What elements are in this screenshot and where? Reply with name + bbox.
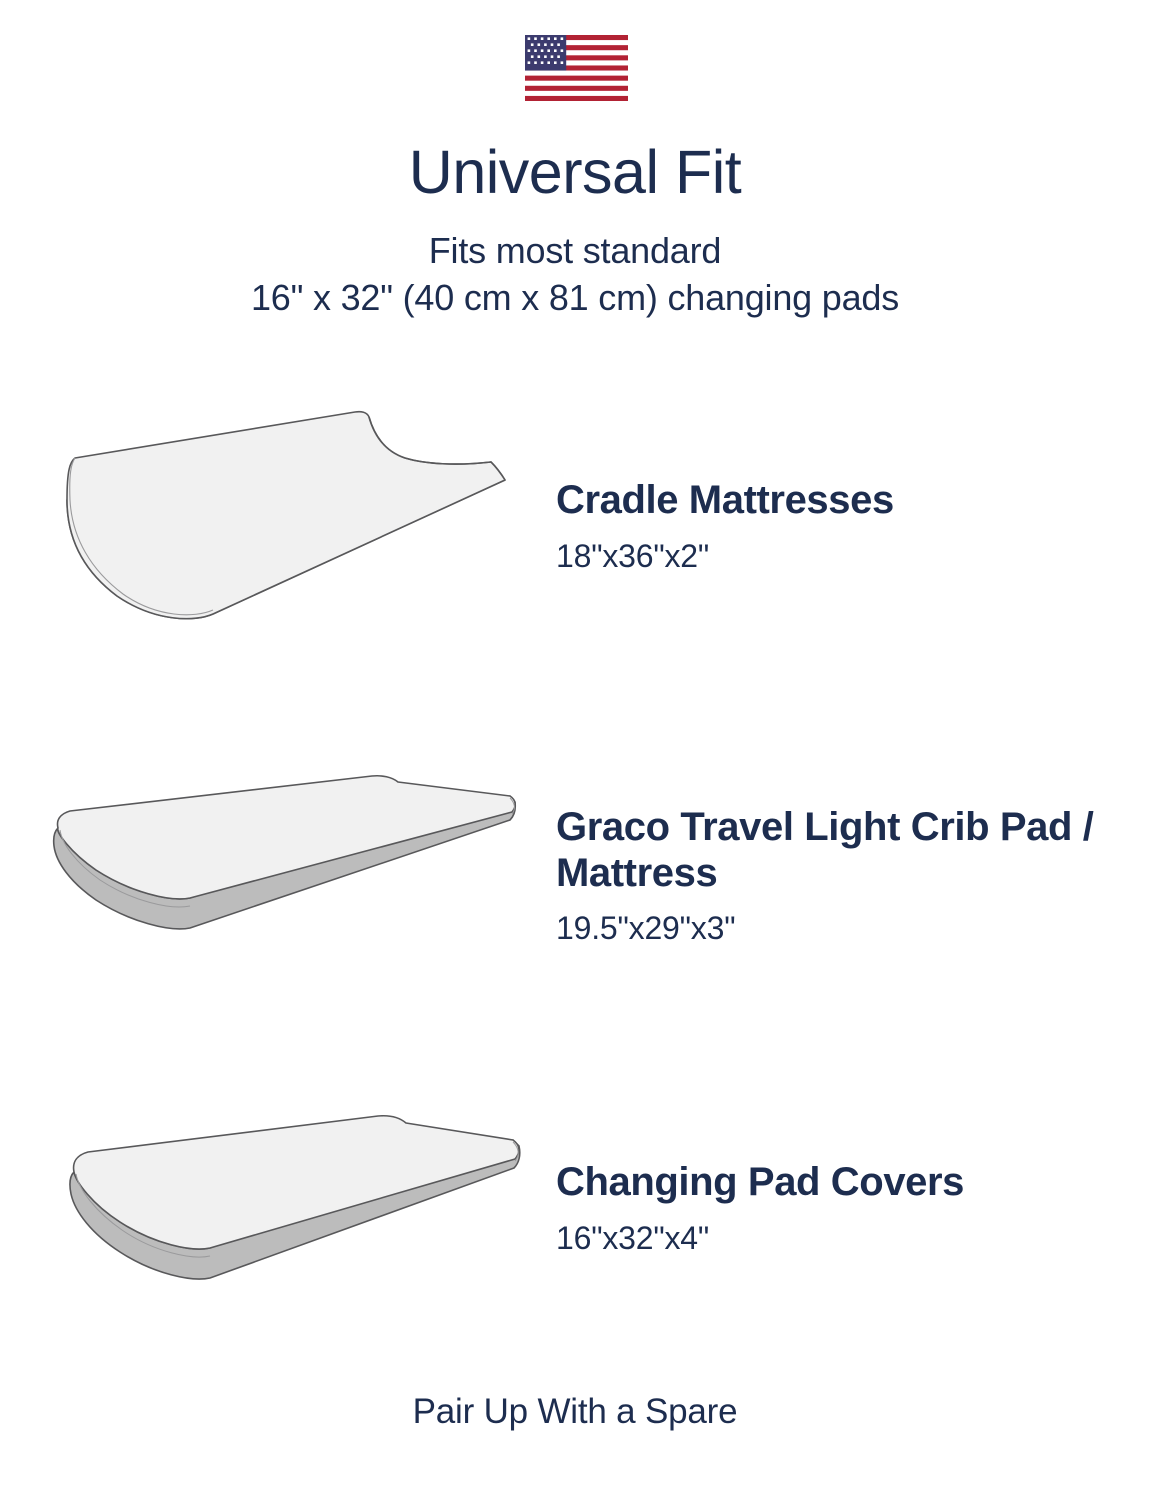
product-illustration [58, 1110, 538, 1310]
product-name: Changing Pad Covers [556, 1160, 964, 1206]
product-dimensions: 18"x36"x2" [556, 538, 894, 575]
header: Universal Fit Fits most standard 16" x 3… [0, 140, 1150, 321]
subtitle-line-1: Fits most standard [0, 228, 1150, 275]
product-text: Cradle Mattresses 18"x36"x2" [556, 478, 894, 575]
product-illustration [45, 400, 515, 630]
page-subtitle: Fits most standard 16" x 32" (40 cm x 81… [0, 228, 1150, 322]
product-text: Graco Travel Light Crib Pad / Mattress 1… [556, 805, 1096, 947]
product-illustration [40, 770, 540, 970]
product-row: Cradle Mattresses 18"x36"x2" [0, 400, 1150, 640]
subtitle-line-2: 16" x 32" (40 cm x 81 cm) changing pads [0, 275, 1150, 322]
usa-flag [525, 35, 628, 101]
contoured-changing-pad-icon [45, 400, 515, 630]
page-title: Universal Fit [0, 140, 1150, 206]
product-row: Changing Pad Covers 16"x32"x4" [0, 1100, 1150, 1330]
product-name: Cradle Mattresses [556, 478, 894, 524]
product-dimensions: 16"x32"x4" [556, 1220, 964, 1257]
usa-flag-icon [525, 35, 628, 101]
product-name: Graco Travel Light Crib Pad / Mattress [556, 805, 1096, 896]
footer-tagline: Pair Up With a Spare [0, 1392, 1150, 1432]
thick-mattress-pad-icon [58, 1110, 538, 1310]
flat-mattress-pad-icon [40, 770, 540, 970]
product-dimensions: 19.5"x29"x3" [556, 910, 1096, 947]
product-row: Graco Travel Light Crib Pad / Mattress 1… [0, 760, 1150, 990]
product-text: Changing Pad Covers 16"x32"x4" [556, 1160, 964, 1257]
